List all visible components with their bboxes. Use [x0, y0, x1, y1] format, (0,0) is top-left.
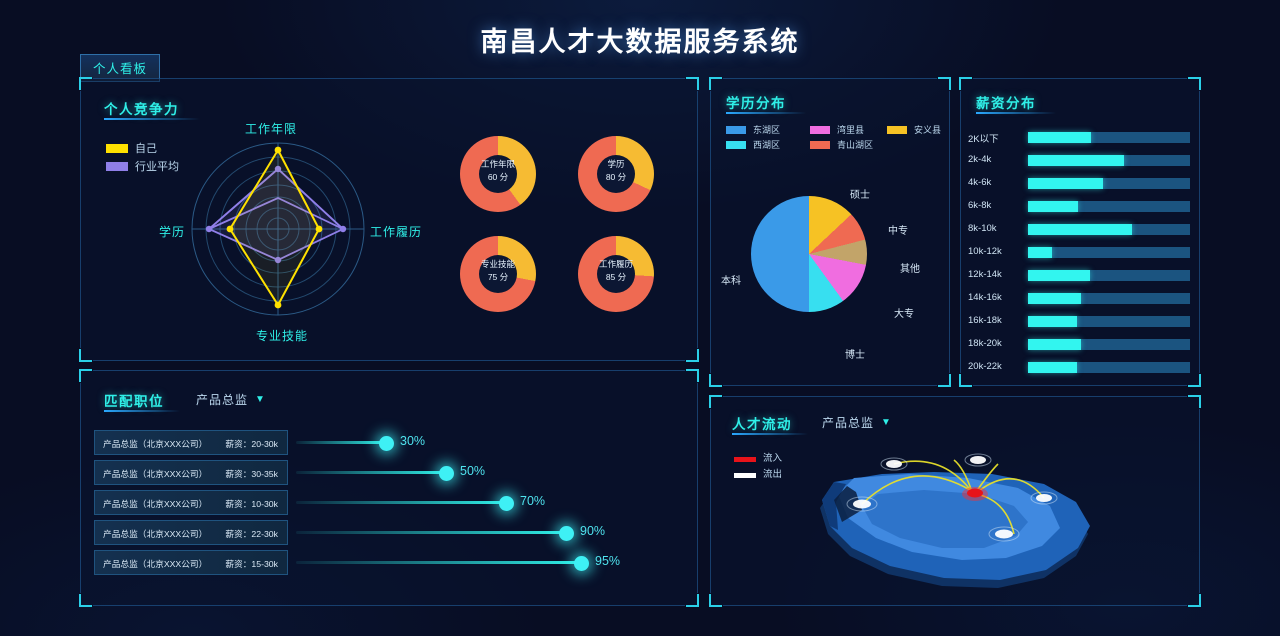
jobs-filter-value: 产品总监: [196, 393, 248, 407]
legend-label-xihu: 西湖区: [753, 140, 780, 150]
job-salary: 薪资：22-30k: [225, 527, 278, 540]
corner-bl: [709, 594, 722, 607]
salary-bar-track: [1028, 362, 1190, 373]
salary-bar-label: 14k-16k: [968, 292, 1024, 303]
job-title: 产品总监（北京XXX公司）: [103, 557, 207, 570]
salary-bar-label: 2k-4k: [968, 154, 1024, 165]
legend-label-inflow: 流入: [763, 453, 782, 464]
salary-bar-track: [1028, 247, 1190, 258]
donut-score: 85 分: [606, 272, 626, 282]
corner-tl: [79, 369, 92, 382]
page-title: 南昌人才大数据服务系统: [0, 20, 1280, 59]
flow-map: [792, 438, 1192, 603]
job-salary: 薪资：10-30k: [225, 497, 278, 510]
donut-label-work-years: 工作年限 60 分: [460, 158, 536, 184]
donut-score: 80 分: [606, 172, 626, 182]
job-row[interactable]: 产品总监（北京XXX公司）薪资：10-30k: [94, 490, 288, 515]
job-row[interactable]: 产品总监（北京XXX公司）薪资：15-30k: [94, 550, 288, 575]
panel-competitiveness: 个人竞争力 自己 行业平均 工作年限 工作履历 专业技能 学历: [80, 78, 698, 361]
salary-bar-row: 2k-4k: [960, 153, 1200, 168]
edge-bottom: [973, 385, 1187, 386]
job-salary: 薪资：30-35k: [225, 467, 278, 480]
salary-bar-fill: [1028, 293, 1081, 304]
job-salary: 薪资：15-30k: [225, 557, 278, 570]
job-match-knob[interactable]: [379, 436, 394, 451]
salary-bar-fill: [1028, 316, 1077, 327]
job-match-percent: 90%: [580, 524, 605, 538]
chevron-down-icon: ▼: [255, 394, 266, 405]
salary-bar-track: [1028, 201, 1190, 212]
corner-tr: [938, 77, 951, 90]
salary-bar-fill: [1028, 247, 1052, 258]
job-row[interactable]: 产品总监（北京XXX公司）薪资：20-30k: [94, 430, 288, 455]
salary-bar-label: 12k-14k: [968, 269, 1024, 280]
salary-bar-track: [1028, 155, 1190, 166]
salary-bar-row: 4k-6k: [960, 176, 1200, 191]
legend-label-wanli: 湾里县: [837, 125, 864, 135]
job-title: 产品总监（北京XXX公司）: [103, 497, 207, 510]
job-match-knob[interactable]: [499, 496, 514, 511]
corner-tl: [709, 77, 722, 90]
donut-score: 60 分: [488, 172, 508, 182]
salary-bar-track: [1028, 339, 1190, 350]
radar-chart: [148, 116, 408, 336]
salary-bar-label: 4k-6k: [968, 177, 1024, 188]
corner-tr: [1188, 395, 1201, 408]
donut-work-history: 工作履历 85 分: [578, 236, 654, 312]
job-match-bar[interactable]: 30%: [296, 430, 446, 455]
legend-swatch-donghu: [726, 126, 746, 134]
legend-swatch-anyi: [887, 126, 907, 134]
salary-bar-label: 10k-12k: [968, 246, 1024, 257]
flow-legend-item-in: 流入: [734, 450, 782, 464]
salary-bar-row: 14k-16k: [960, 291, 1200, 306]
legend-swatch-inflow: [734, 457, 756, 462]
flow-legend-item-out: 流出: [734, 466, 782, 480]
job-match-bar[interactable]: 70%: [296, 490, 566, 515]
corner-tr: [686, 77, 699, 90]
salary-bar-label: 8k-10k: [968, 223, 1024, 234]
salary-bar-row: 20k-22k: [960, 360, 1200, 375]
donut-score: 75 分: [488, 272, 508, 282]
job-match-line: [296, 501, 506, 504]
salary-bar-fill: [1028, 339, 1081, 350]
title-underline: [732, 433, 808, 435]
corner-tr: [686, 369, 699, 382]
panel-title-salary: 薪资分布: [976, 92, 1036, 112]
donut-label-education: 学历 80 分: [578, 158, 654, 184]
salary-bar-row: 18k-20k: [960, 337, 1200, 352]
salary-bar-track: [1028, 224, 1190, 235]
map-body: [822, 472, 1090, 580]
donut-skills: 专业技能 75 分: [460, 236, 536, 312]
panel-flow: 人才流动 产品总监▼ 流入 流出: [710, 396, 1200, 606]
salary-bar-track: [1028, 270, 1190, 281]
edge-top: [723, 78, 937, 79]
edge-right: [697, 91, 698, 348]
job-match-percent: 30%: [400, 434, 425, 448]
corner-tr: [1188, 77, 1201, 90]
pie-label-other: 其他: [900, 260, 920, 275]
edge-bottom: [723, 385, 937, 386]
salary-bar-fill: [1028, 155, 1124, 166]
pie-label-master: 硕士: [850, 186, 870, 201]
job-row[interactable]: 产品总监（北京XXX公司）薪资：30-35k: [94, 460, 288, 485]
pie-label-doctor: 博士: [845, 346, 865, 361]
panel-education: 学历分布 东湖区 西湖区 湾里县 青山湖区 安义县 硕士 中专 其他 大专 博士…: [710, 78, 950, 386]
title-underline: [104, 410, 180, 412]
salary-bar-row: 12k-14k: [960, 268, 1200, 283]
salary-bar-row: 8k-10k: [960, 222, 1200, 237]
corner-tl: [709, 395, 722, 408]
legend-label-qingshanhu: 青山湖区: [837, 140, 873, 150]
edge-right: [1199, 409, 1200, 593]
edge-left: [80, 91, 81, 348]
pie-legend-item-xihu: 西湖区: [726, 138, 780, 151]
job-match-line: [296, 441, 386, 444]
corner-br: [1188, 374, 1201, 387]
salary-bar-label: 18k-20k: [968, 338, 1024, 349]
corner-br: [938, 374, 951, 387]
donut-work-years: 工作年限 60 分: [460, 136, 536, 212]
salary-bar-track: [1028, 316, 1190, 327]
job-title: 产品总监（北京XXX公司）: [103, 437, 207, 450]
corner-bl: [79, 349, 92, 362]
legend-swatch-qingshanhu: [810, 141, 830, 149]
panel-title-education: 学历分布: [726, 92, 786, 112]
job-match-bar[interactable]: 50%: [296, 460, 506, 485]
donut-title: 专业技能: [481, 259, 515, 269]
salary-bar-track: [1028, 293, 1190, 304]
salary-bar-label: 16k-18k: [968, 315, 1024, 326]
flow-filter-dropdown[interactable]: 产品总监▼: [822, 414, 892, 431]
job-match-percent: 70%: [520, 494, 545, 508]
edge-top: [723, 396, 1187, 397]
salary-bar-label: 6k-8k: [968, 200, 1024, 211]
flow-filter-value: 产品总监: [822, 416, 874, 430]
pie-legend-item-wanli: 湾里县: [810, 123, 864, 136]
pie-label-college: 大专: [894, 305, 914, 320]
legend-swatch-self: [106, 144, 128, 153]
job-match-bar[interactable]: 90%: [296, 520, 626, 545]
salary-bar-row: 6k-8k: [960, 199, 1200, 214]
edge-top: [973, 78, 1187, 79]
legend-swatch-industry: [106, 162, 128, 171]
salary-bar-fill: [1028, 201, 1078, 212]
job-match-line: [296, 531, 566, 534]
job-match-knob[interactable]: [439, 466, 454, 481]
edge-bottom: [723, 605, 1187, 606]
panel-jobs: 匹配职位 产品总监▼ 产品总监（北京XXX公司）薪资：20-30k30%产品总监…: [80, 370, 698, 606]
edge-left: [710, 409, 711, 593]
edge-right: [949, 91, 950, 373]
panel-title-competitiveness: 个人竞争力: [104, 98, 179, 118]
pie-chart-education: [751, 196, 867, 312]
salary-bar-track: [1028, 178, 1190, 189]
legend-swatch-xihu: [726, 141, 746, 149]
edge-left: [710, 91, 711, 373]
donut-title: 工作履历: [599, 259, 633, 269]
salary-bar-row: 16k-18k: [960, 314, 1200, 329]
salary-bar-fill: [1028, 270, 1090, 281]
job-match-line: [296, 471, 446, 474]
job-match-bar[interactable]: 95%: [296, 550, 641, 575]
pie-label-vocational: 中专: [888, 222, 908, 237]
title-underline: [976, 112, 1056, 114]
job-match-percent: 50%: [460, 464, 485, 478]
job-match-knob[interactable]: [574, 556, 589, 571]
donut-title: 学历: [607, 159, 624, 169]
pie-legend-item-qingshanhu: 青山湖区: [810, 138, 873, 151]
job-match-percent: 95%: [595, 554, 620, 568]
job-match-knob[interactable]: [559, 526, 574, 541]
salary-bar-row: 2K以下: [960, 130, 1200, 145]
job-row[interactable]: 产品总监（北京XXX公司）薪资：22-30k: [94, 520, 288, 545]
chevron-down-icon: ▼: [881, 417, 892, 428]
corner-br: [686, 594, 699, 607]
corner-br: [686, 349, 699, 362]
edge-bottom: [93, 360, 685, 361]
salary-bar-fill: [1028, 224, 1132, 235]
salary-bar-row: 10k-12k: [960, 245, 1200, 260]
legend-swatch-outflow: [734, 473, 756, 478]
salary-bar-fill: [1028, 362, 1077, 373]
salary-bar-track: [1028, 132, 1190, 143]
job-salary: 薪资：20-30k: [225, 437, 278, 450]
salary-bar-fill: [1028, 132, 1091, 143]
salary-bar-label: 20k-22k: [968, 361, 1024, 372]
donut-label-skills: 专业技能 75 分: [460, 258, 536, 284]
donut-education: 学历 80 分: [578, 136, 654, 212]
title-underline: [726, 112, 806, 114]
edge-bottom: [93, 605, 685, 606]
pie-legend-item-donghu: 东湖区: [726, 123, 780, 136]
pie-legend-item-anyi: 安义县: [887, 123, 941, 136]
job-list: 产品总监（北京XXX公司）薪资：20-30k30%产品总监（北京XXX公司）薪资…: [80, 430, 698, 590]
panel-title-jobs: 匹配职位: [104, 390, 164, 410]
corner-tl: [79, 77, 92, 90]
corner-bl: [79, 594, 92, 607]
job-match-line: [296, 561, 581, 564]
edge-top: [93, 78, 685, 79]
salary-bar-label: 2K以下: [968, 131, 1024, 145]
corner-tl: [959, 77, 972, 90]
jobs-filter-dropdown[interactable]: 产品总监▼: [196, 391, 266, 408]
panel-title-flow: 人才流动: [732, 413, 792, 433]
legend-label-anyi: 安义县: [914, 125, 941, 135]
job-title: 产品总监（北京XXX公司）: [103, 527, 207, 540]
pie-label-bachelor: 本科: [721, 272, 741, 287]
legend-swatch-wanli: [810, 126, 830, 134]
job-title: 产品总监（北京XXX公司）: [103, 467, 207, 480]
salary-bar-fill: [1028, 178, 1103, 189]
corner-bl: [709, 374, 722, 387]
panel-salary: 薪资分布 2K以下2k-4k4k-6k6k-8k8k-10k10k-12k12k…: [960, 78, 1200, 386]
corner-bl: [959, 374, 972, 387]
legend-label-donghu: 东湖区: [753, 125, 780, 135]
donut-title: 工作年限: [481, 159, 515, 169]
legend-label-outflow: 流出: [763, 469, 782, 480]
edge-top: [93, 370, 685, 371]
donut-label-work-history: 工作履历 85 分: [578, 258, 654, 284]
